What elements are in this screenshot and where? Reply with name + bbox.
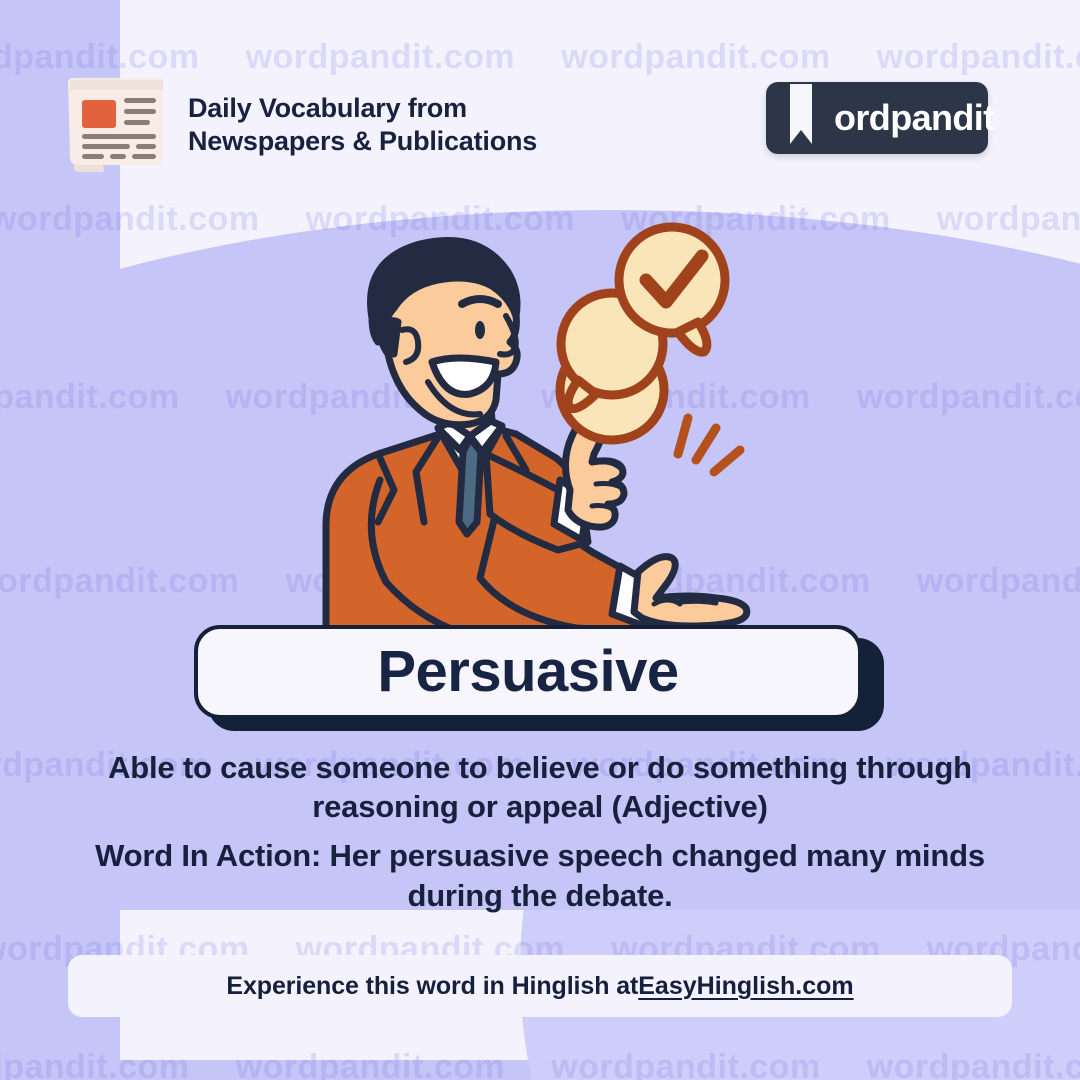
vocabulary-word: Persuasive xyxy=(377,643,678,701)
brand-logo-text: ordpandit xyxy=(834,82,995,154)
persuasive-speaker-illustration xyxy=(320,222,780,652)
brand-logo[interactable]: ordpandit xyxy=(766,82,988,154)
word-card: Persuasive xyxy=(194,625,884,731)
header-title: Daily Vocabulary from Newspapers & Publi… xyxy=(188,92,537,158)
word-card-body: Persuasive xyxy=(194,625,862,719)
header-title-line1: Daily Vocabulary from xyxy=(188,93,467,123)
emphasis-lines xyxy=(678,418,740,472)
footer-prefix-text: Experience this word in Hinglish at xyxy=(226,972,638,1001)
newspaper-icon xyxy=(58,68,174,176)
header: Daily Vocabulary from Newspapers & Publi… xyxy=(0,0,1080,200)
hinglish-footer-bar[interactable]: Experience this word in Hinglish at Easy… xyxy=(68,955,1012,1017)
word-in-action-example: Word In Action: Her persuasive speech ch… xyxy=(52,836,1028,917)
header-title-line2: Newspapers & Publications xyxy=(188,125,537,158)
easyhinglish-link[interactable]: EasyHinglish.com xyxy=(638,972,853,1001)
word-definition: Able to cause someone to believe or do s… xyxy=(66,748,1014,827)
vocabulary-poster: wordpandit.comwordpandit.comwordpandit.c… xyxy=(0,0,1080,1080)
